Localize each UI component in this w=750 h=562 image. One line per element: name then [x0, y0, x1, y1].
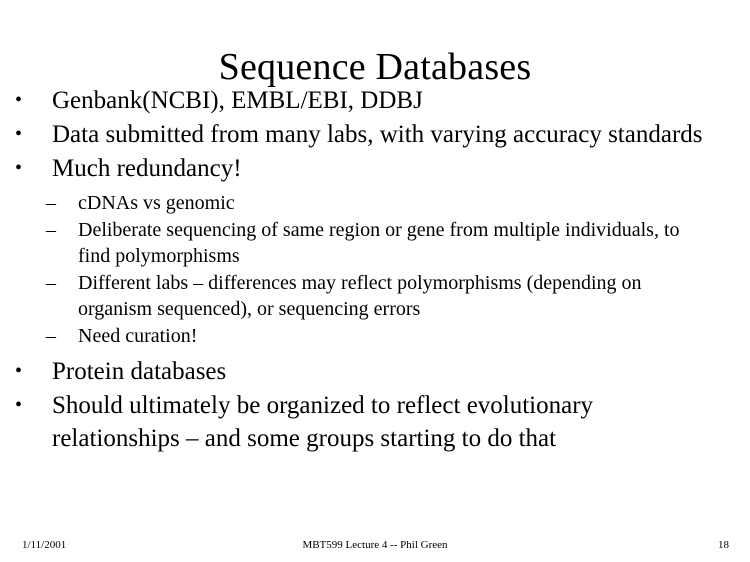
bullet-item: • Protein databases: [10, 355, 720, 388]
bullet-text: Data submitted from many labs, with vary…: [52, 118, 704, 151]
sub-bullet-text: Different labs – differences may reflect…: [78, 270, 700, 322]
dash-marker-icon: –: [10, 217, 78, 243]
bullet-item: • Data submitted from many labs, with va…: [10, 118, 720, 151]
bullet-marker-icon: •: [10, 152, 52, 185]
bullet-marker-icon: •: [10, 389, 52, 422]
sub-bullet-text: Need curation!: [78, 323, 700, 349]
footer-center-text: MBT599 Lecture 4 -- Phil Green: [0, 538, 750, 552]
bullet-text: Should ultimately be organized to reflec…: [52, 389, 704, 455]
slide-number: 18: [718, 538, 729, 552]
bullet-marker-icon: •: [10, 84, 52, 117]
sub-bullet-text: cDNAs vs genomic: [78, 190, 700, 216]
sub-bullet-item: – Different labs – differences may refle…: [10, 270, 720, 322]
slide-footer: 1/11/2001 MBT599 Lecture 4 -- Phil Green…: [0, 538, 750, 558]
dash-marker-icon: –: [10, 190, 78, 216]
presentation-slide: Sequence Databases • Genbank(NCBI), EMBL…: [0, 0, 750, 562]
bullet-text: Genbank(NCBI), EMBL/EBI, DDBJ: [52, 84, 704, 117]
bullet-item: • Much redundancy!: [10, 152, 720, 185]
sub-bullet-item: – Deliberate sequencing of same region o…: [10, 217, 720, 269]
bullet-text: Much redundancy!: [52, 152, 704, 185]
bullet-item: • Should ultimately be organized to refl…: [10, 389, 720, 455]
bullet-item: • Genbank(NCBI), EMBL/EBI, DDBJ: [10, 84, 720, 117]
bullet-marker-icon: •: [10, 118, 52, 151]
bullet-marker-icon: •: [10, 355, 52, 388]
page-title: Sequence Databases: [0, 45, 750, 89]
sub-bullet-text: Deliberate sequencing of same region or …: [78, 217, 700, 269]
sub-bullet-item: – cDNAs vs genomic: [10, 190, 720, 216]
sub-bullet-item: – Need curation!: [10, 323, 720, 349]
slide-body: • Genbank(NCBI), EMBL/EBI, DDBJ • Data s…: [10, 84, 720, 456]
dash-marker-icon: –: [10, 270, 78, 296]
dash-marker-icon: –: [10, 323, 78, 349]
bullet-text: Protein databases: [52, 355, 704, 388]
